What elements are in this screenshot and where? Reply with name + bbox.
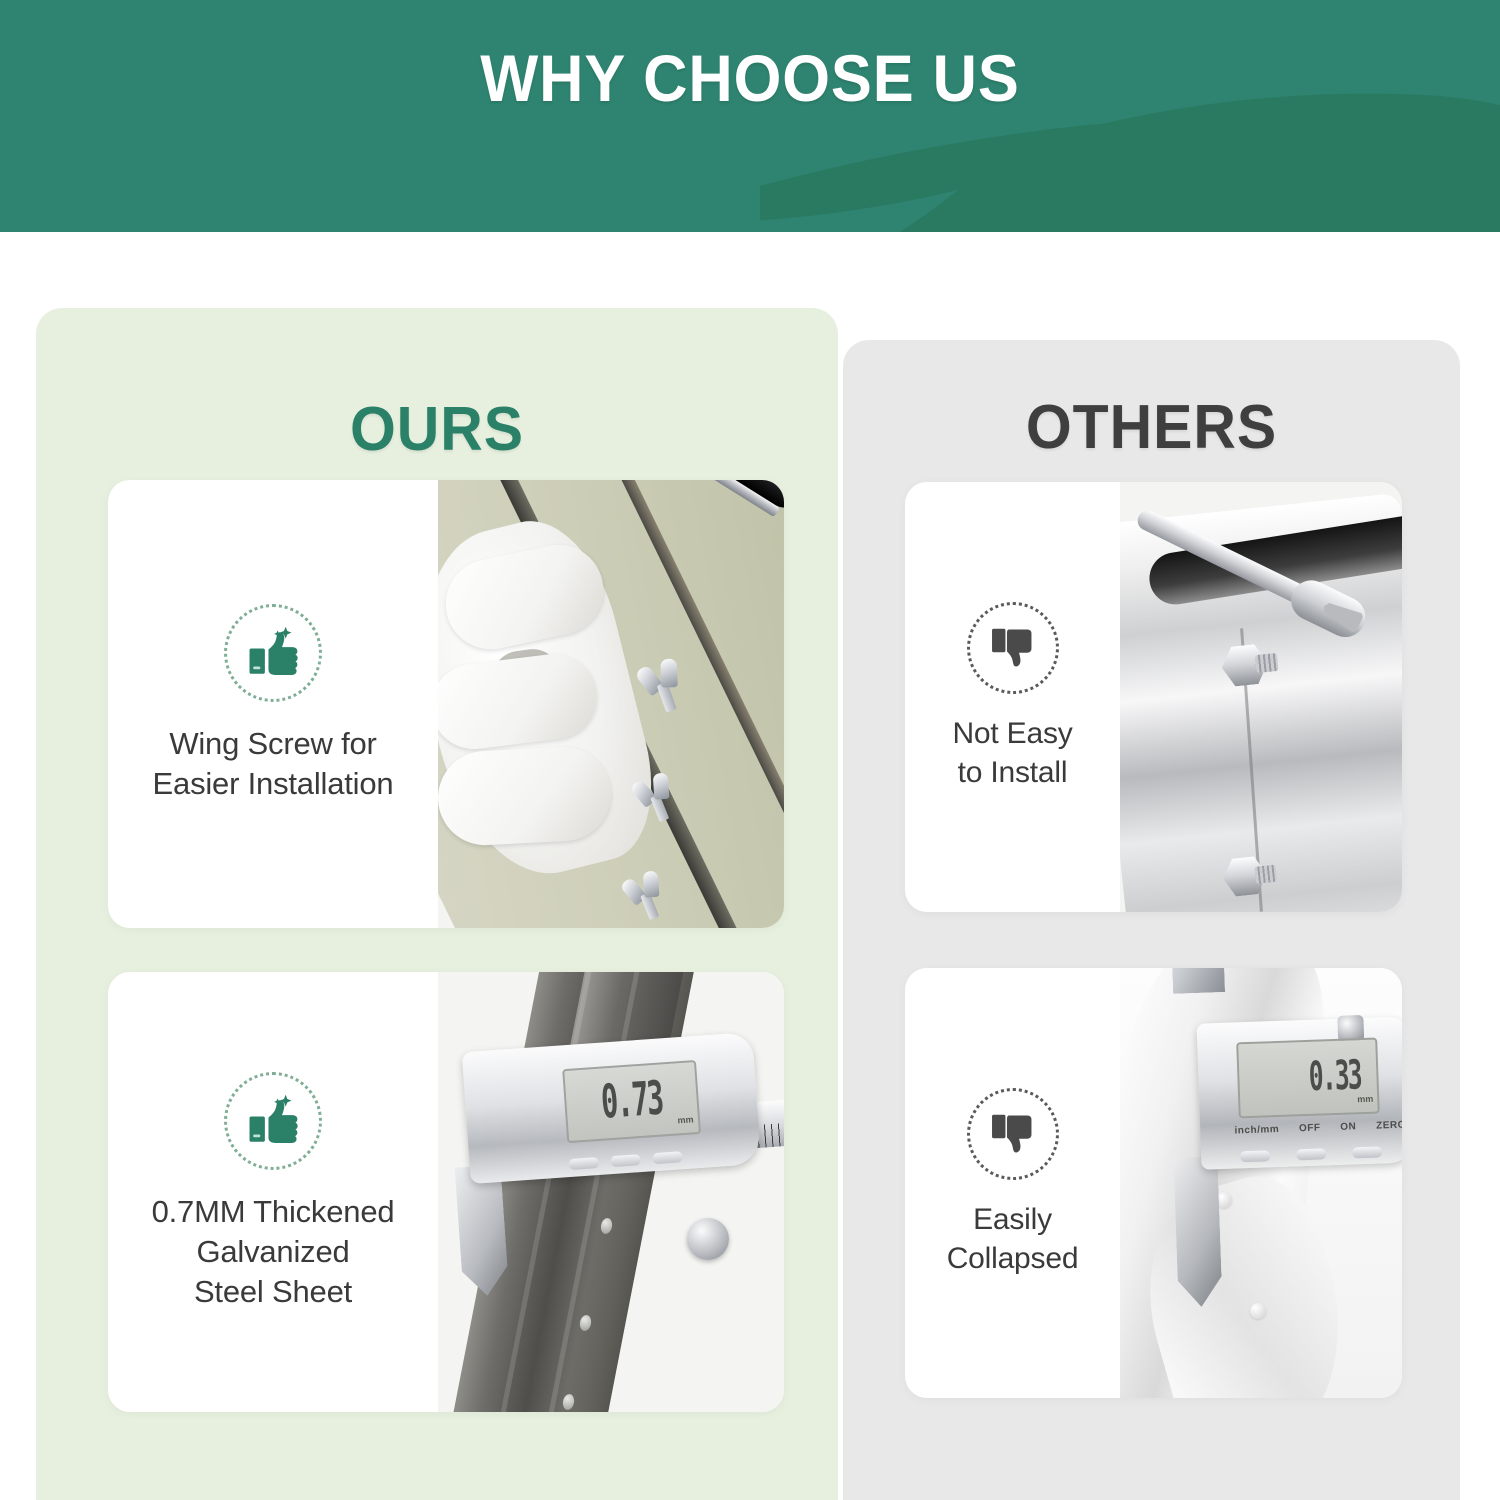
caliper-button[interactable] (1240, 1150, 1270, 1162)
ours-heading: OURS (56, 394, 818, 465)
caliper-button[interactable] (652, 1152, 683, 1165)
caliper-button-labels: inch/mm OFF ON ZERO (1234, 1119, 1402, 1136)
caliper-label-off: OFF (1299, 1122, 1321, 1134)
others-card-hard-install[interactable]: Not Easy to Install (905, 482, 1402, 912)
card-text-block: Easily Collapsed (905, 968, 1120, 1398)
ours-card-steel-thickness[interactable]: 0.7MM Thickened Galvanized Steel Sheet 7… (108, 972, 784, 1412)
thumbs-down-icon (967, 1088, 1059, 1180)
thumbs-up-sparkle-icon (224, 604, 322, 702)
caliper-unit: mm (1357, 1094, 1373, 1105)
ours-panel: OURS Wing Screw for Easier Installation (36, 308, 838, 1500)
page-title: WHY CHOOSE US (53, 44, 1448, 113)
card-text-block: Not Easy to Install (905, 482, 1120, 912)
thumbs-down-icon (967, 602, 1059, 694)
card-label: Easily Collapsed (947, 1200, 1079, 1278)
card-label: Wing Screw for Easier Installation (153, 724, 394, 805)
caliper-button[interactable] (568, 1158, 599, 1171)
caliper-display: 0.73 mm (562, 1060, 701, 1143)
caliper-label-inch-mm: inch/mm (1234, 1124, 1279, 1137)
caliper-button[interactable] (610, 1155, 641, 1168)
others-heading: OTHERS (858, 392, 1444, 463)
caliper-label-on: ON (1340, 1121, 1356, 1133)
caliper-label-zero: ZERO (1376, 1119, 1402, 1131)
photo-wrench-on-bolt (1120, 482, 1402, 912)
photo-wing-screw-installation (438, 480, 784, 928)
photo-caliper-measuring-steel: 70 80 0.73 mm (438, 972, 784, 1412)
caliper-reading: 0.33 (1308, 1053, 1361, 1101)
page-header: WHY CHOOSE US (0, 0, 1500, 232)
caliper-button[interactable] (1351, 1146, 1381, 1158)
card-text-block: Wing Screw for Easier Installation (108, 480, 438, 928)
others-card-easily-collapsed[interactable]: Easily Collapsed 0.33 mm (905, 968, 1402, 1398)
caliper-display: 0.33 mm (1236, 1038, 1380, 1119)
thumbs-up-sparkle-icon (224, 1072, 322, 1170)
photo-caliper-measuring-thin-pipe: 0.33 mm inch/mm OFF ON ZERO (1120, 968, 1402, 1398)
others-panel: OTHERS Not Easy to Install (843, 340, 1460, 1500)
caliper-thumbwheel (687, 1218, 729, 1260)
caliper-button[interactable] (1295, 1148, 1325, 1160)
ours-card-wing-screw[interactable]: Wing Screw for Easier Installation (108, 480, 784, 928)
caliper-unit: mm (677, 1114, 694, 1125)
card-label: Not Easy to Install (952, 714, 1072, 792)
why-choose-us-comparison-page: WHY CHOOSE US OURS Wing Screw for Easier… (0, 0, 1500, 1500)
card-label: 0.7MM Thickened Galvanized Steel Sheet (152, 1192, 395, 1313)
card-text-block: 0.7MM Thickened Galvanized Steel Sheet (108, 972, 438, 1412)
caliper-reading: 0.73 (599, 1072, 664, 1130)
header-wave-graphic (0, 0, 1500, 232)
